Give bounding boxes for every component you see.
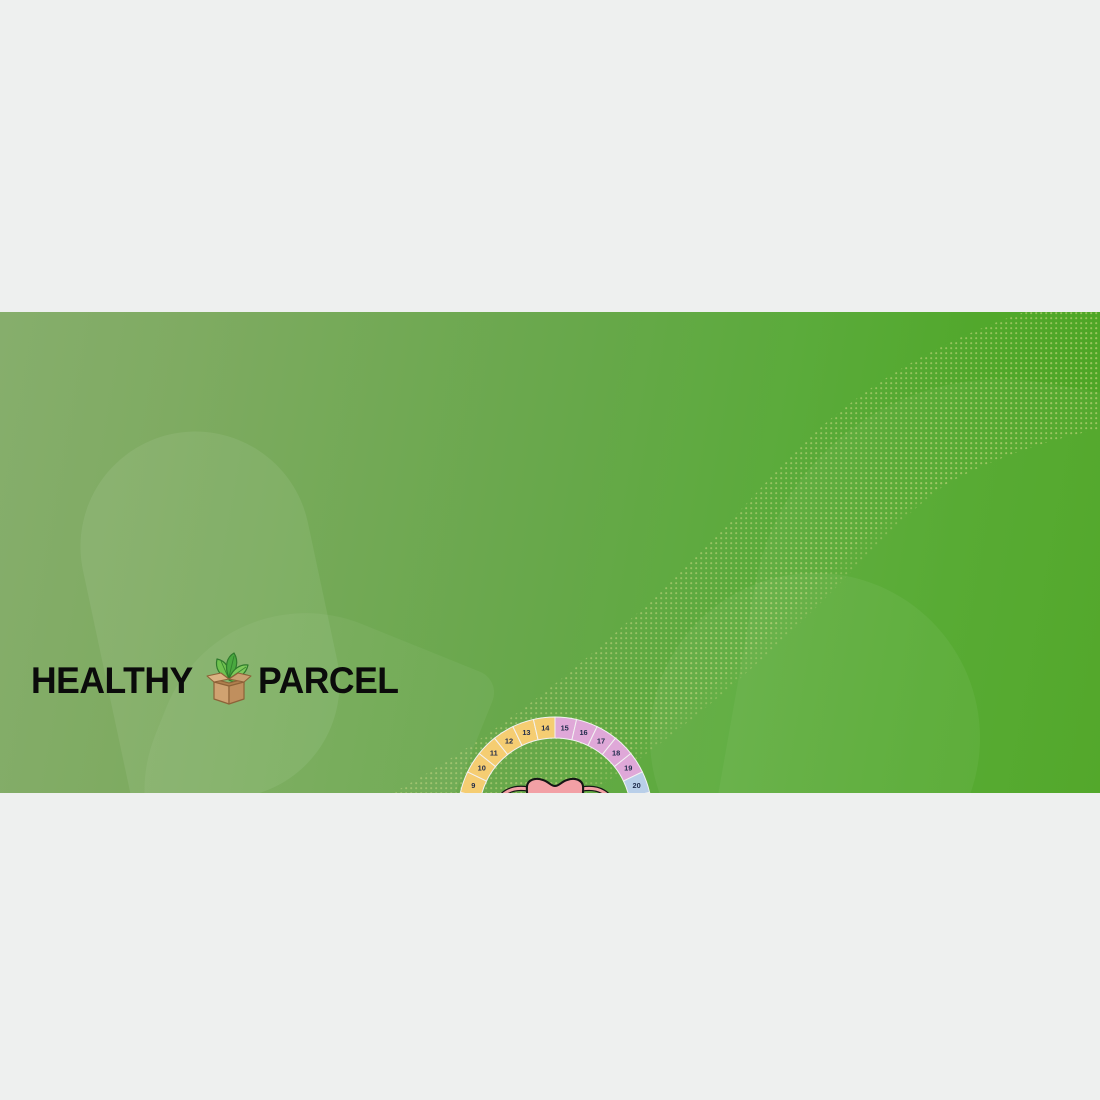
article-hero-banner: HEALTHY [0, 312, 1100, 793]
cycle-day-number: 18 [612, 748, 620, 757]
logo-word-healthy: HEALTHY [31, 662, 193, 699]
brand-logo[interactable]: HEALTHY [31, 652, 405, 708]
soft-round-blob [650, 573, 980, 793]
cycle-day-number: 12 [505, 736, 513, 745]
page-background: HEALTHY [0, 0, 1100, 1100]
cycle-wheel-segments [458, 717, 652, 793]
soft-leaf-blob [59, 410, 361, 793]
cycle-day-number: 16 [579, 728, 587, 737]
cycle-day-number: 15 [561, 724, 569, 733]
cycle-day-number: 10 [478, 763, 486, 772]
cycle-day-number: 19 [624, 763, 632, 772]
cycle-day-number: 14 [541, 724, 550, 733]
menstrual-cycle-wheel: 1234567891011121314151617181920212223242… [455, 714, 655, 793]
box-with-leaves-icon [201, 652, 257, 708]
cycle-day-number: 13 [522, 728, 530, 737]
cycle-day-number: 17 [597, 736, 605, 745]
cycle-day-number: 9 [471, 781, 475, 790]
cycle-day-number: 11 [490, 748, 498, 757]
dotted-wave-mesh-icon [310, 312, 1100, 793]
soft-sheet-blob [708, 339, 1100, 793]
logo-word-parcel: PARCEL [258, 662, 399, 699]
cycle-day-number: 20 [633, 781, 641, 790]
uterus-smiling-face-icon [491, 779, 619, 793]
